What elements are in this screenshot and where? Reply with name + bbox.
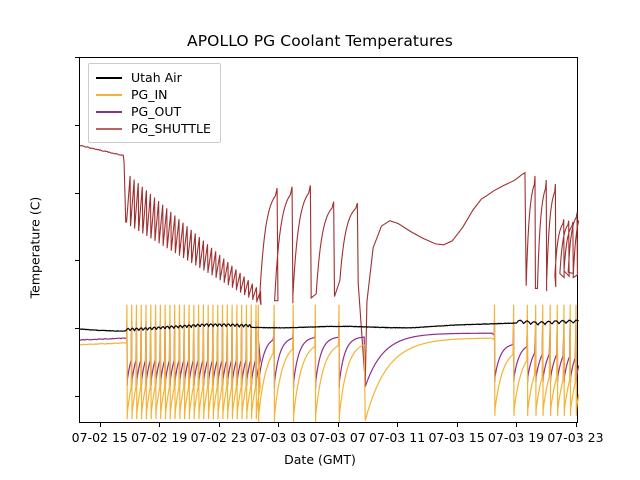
y-tick-mark (75, 193, 79, 194)
legend-swatch (96, 77, 122, 79)
x-tick-mark (100, 423, 101, 427)
legend-item: PG_OUT (96, 103, 211, 120)
legend-item: Utah Air (96, 69, 211, 86)
chart-title: APOLLO PG Coolant Temperatures (0, 32, 640, 50)
y-tick-mark (75, 396, 79, 397)
x-tick-mark (516, 423, 517, 427)
legend-item: PG_SHUTTLE (96, 120, 211, 137)
legend-swatch (96, 94, 122, 96)
legend-item: PG_IN (96, 86, 211, 103)
y-tick-mark (75, 260, 79, 261)
legend-label: PG_IN (131, 86, 168, 103)
y-tick-mark (75, 328, 79, 329)
y-tick-mark (75, 57, 79, 58)
legend: Utah AirPG_INPG_OUTPG_SHUTTLE (88, 63, 221, 143)
legend-label: Utah Air (131, 69, 182, 86)
x-tick-mark (219, 423, 220, 427)
x-tick-mark (457, 423, 458, 427)
legend-label: PG_OUT (131, 103, 181, 120)
x-tick-mark (397, 423, 398, 427)
figure: APOLLO PG Coolant Temperatures Temperatu… (0, 0, 640, 480)
legend-swatch (96, 111, 122, 113)
x-tick-mark (278, 423, 279, 427)
legend-swatch (96, 128, 122, 130)
y-tick-mark (75, 125, 79, 126)
y-axis-label: Temperature (C) (28, 128, 43, 368)
x-axis-label: Date (GMT) (0, 452, 640, 467)
legend-label: PG_SHUTTLE (131, 120, 211, 137)
x-tick-mark (338, 423, 339, 427)
series-pg-in (80, 305, 579, 422)
x-tick-label: 07-03 23 (521, 430, 631, 445)
x-tick-mark (576, 423, 577, 427)
x-tick-mark (159, 423, 160, 427)
